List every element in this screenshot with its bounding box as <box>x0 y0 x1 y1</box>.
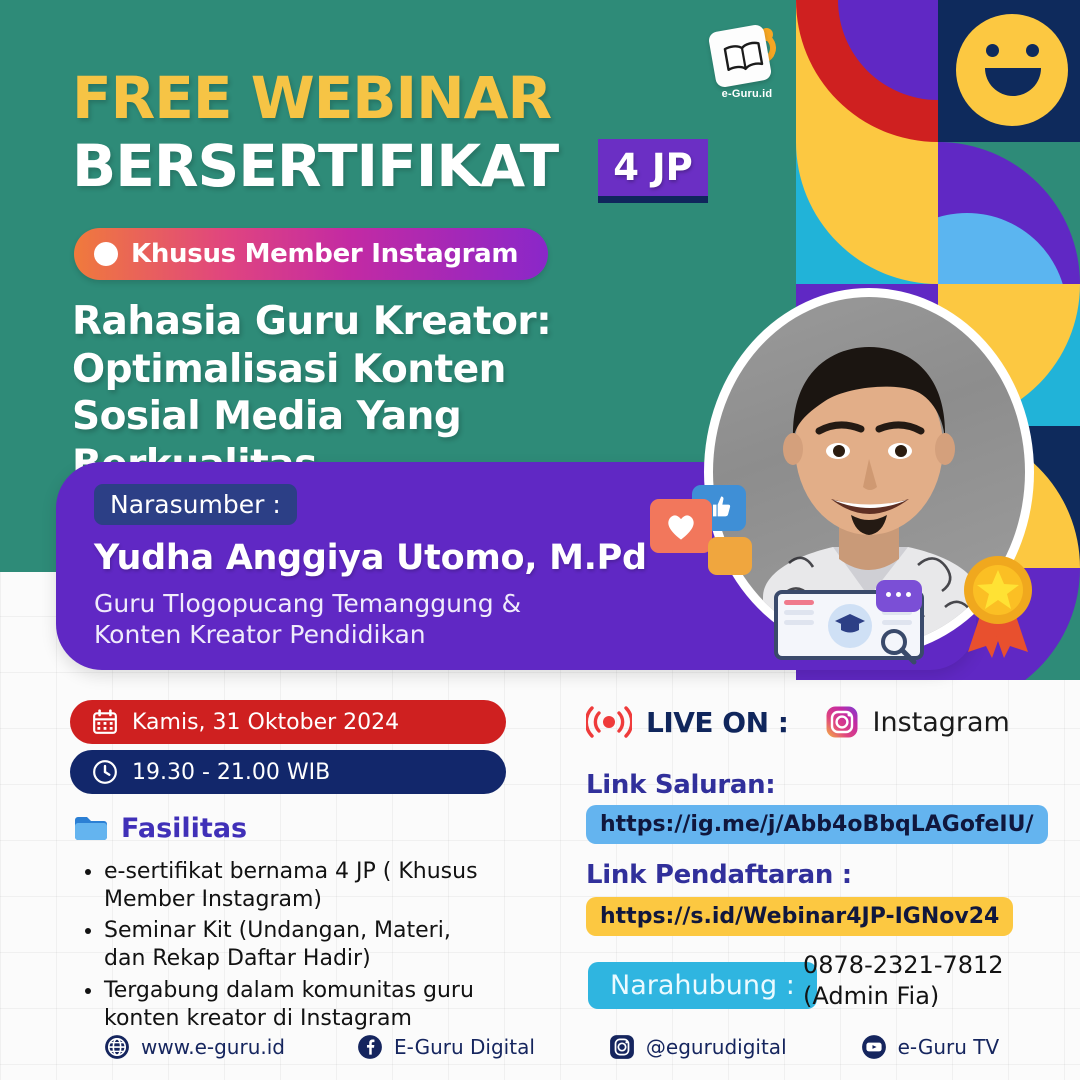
award-badge-illustration <box>958 548 1038 658</box>
time-label: 19.30 - 21.00 WIB <box>132 760 330 785</box>
footer-facebook[interactable]: E-Guru Digital <box>357 1034 535 1060</box>
list-item: e-sertifikat bernama 4 JP ( Khusus Membe… <box>104 858 496 914</box>
webinar-topic: Rahasia Guru Kreator: Optimalisasi Konte… <box>72 298 712 488</box>
globe-icon <box>104 1034 130 1060</box>
jp-badge: 4 JP <box>598 139 708 203</box>
footer-social-bar: www.e-guru.id E-Guru Digital @egurudigit… <box>0 1022 1080 1072</box>
geo-tile <box>938 142 1080 284</box>
geo-tile <box>796 0 938 142</box>
live-on-row: LIVE ON : Instagram <box>586 705 1010 739</box>
contact-phone: 0878-2321-7812 <box>803 950 1004 981</box>
logo-label: e-Guru.id <box>704 88 790 100</box>
heart-icon <box>664 511 698 541</box>
youtube-icon <box>861 1034 887 1060</box>
folder-icon <box>74 815 108 843</box>
footer-instagram-label: @egurudigital <box>646 1035 787 1059</box>
facilities-header: Fasilitas <box>74 813 247 844</box>
footer-youtube-label: e-Guru TV <box>898 1035 1000 1059</box>
live-platform-label: Instagram <box>873 707 1010 738</box>
facebook-icon <box>357 1034 383 1060</box>
message-bubble <box>708 537 752 575</box>
headline-bersertifikat: BERSERTIFIKAT <box>72 132 558 200</box>
webinar-poster: e-Guru.id FREE WEBINAR BERSERTIFIKAT 4 J… <box>0 0 1080 1080</box>
speaker-role-line-2: Konten Kreator Pendidikan <box>94 619 654 650</box>
graduation-cap-icon <box>834 612 866 634</box>
narahubung-contact: 0878-2321-7812 (Admin Fia) <box>803 950 1004 1012</box>
link-saluran-url[interactable]: https://ig.me/j/Abb4oBbqLAGofeIU/ <box>586 805 1048 844</box>
member-instagram-pill: Khusus Member Instagram <box>74 228 548 280</box>
member-pill-label: Khusus Member Instagram <box>131 239 518 269</box>
jp-badge-label: 4 JP <box>613 146 693 189</box>
instagram-icon <box>825 705 859 739</box>
eguru-logo: e-Guru.id <box>704 26 790 114</box>
topic-line-2: Optimalisasi Konten <box>72 346 712 394</box>
time-badge: 19.30 - 21.00 WIB <box>70 750 506 794</box>
headline-free-webinar: FREE WEBINAR <box>72 64 551 132</box>
bullet-dot-icon <box>94 242 118 266</box>
contact-admin: (Admin Fia) <box>803 981 1004 1012</box>
book-icon <box>721 39 766 80</box>
social-reactions-illustration <box>650 485 790 605</box>
footer-website-label: www.e-guru.id <box>141 1035 285 1059</box>
speaker-name: Yudha Anggiya Utomo, M.Pd <box>94 538 647 578</box>
geo-tile <box>796 142 938 284</box>
broadcast-icon <box>586 705 632 739</box>
live-on-label: LIVE ON : <box>646 706 789 739</box>
facilities-list: e-sertifikat bernama 4 JP ( Khusus Membe… <box>86 858 496 1036</box>
narasumber-tag: Narasumber : <box>94 484 297 525</box>
list-item: Seminar Kit (Undangan, Materi, dan Rekap… <box>104 917 496 973</box>
laptop-illustration <box>758 590 938 676</box>
footer-facebook-label: E-Guru Digital <box>394 1035 535 1059</box>
speaker-role: Guru Tlogopucang Temanggung & Konten Kre… <box>94 588 654 651</box>
clock-icon <box>92 759 118 785</box>
footer-website[interactable]: www.e-guru.id <box>104 1034 285 1060</box>
footer-youtube[interactable]: e-Guru TV <box>861 1034 1000 1060</box>
topic-line-1: Rahasia Guru Kreator: <box>72 298 712 346</box>
calendar-icon <box>92 709 118 735</box>
instagram-icon <box>609 1034 635 1060</box>
search-icon <box>878 626 918 666</box>
link-saluran-label: Link Saluran: <box>586 770 775 800</box>
facilities-title: Fasilitas <box>121 813 247 844</box>
link-pendaftaran-url[interactable]: https://s.id/Webinar4JP-IGNov24 <box>586 897 1013 936</box>
footer-instagram[interactable]: @egurudigital <box>609 1034 787 1060</box>
date-label: Kamis, 31 Oktober 2024 <box>132 710 399 735</box>
date-badge: Kamis, 31 Oktober 2024 <box>70 700 506 744</box>
geo-tile-smiley <box>938 0 1080 142</box>
speaker-role-line-1: Guru Tlogopucang Temanggung & <box>94 588 654 619</box>
narahubung-label: Narahubung : <box>588 962 817 1009</box>
link-pendaftaran-label: Link Pendaftaran : <box>586 860 852 890</box>
